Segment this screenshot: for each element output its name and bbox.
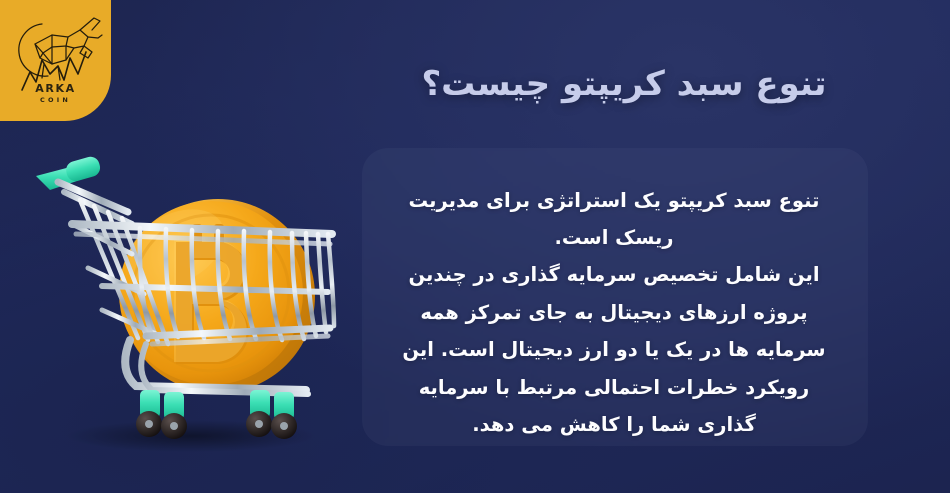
shopping-cart-with-bitcoin-coin xyxy=(6,138,356,458)
infographic-canvas: ARKA COIN تنوع سبد کریپتو چیست؟ تنوع سبد… xyxy=(0,0,950,493)
body-paragraph: تنوع سبد کریپتو یک استراتژی برای مدیریت … xyxy=(388,182,840,444)
brand-subtitle-text: COIN xyxy=(0,96,111,104)
brand-logo-badge[interactable]: ARKA COIN xyxy=(0,0,111,121)
body-text-card: تنوع سبد کریپتو یک استراتژی برای مدیریت … xyxy=(362,148,868,446)
brand-name-text: ARKA xyxy=(0,82,111,95)
page-title: تنوع سبد کریپتو چیست؟ xyxy=(324,59,924,110)
